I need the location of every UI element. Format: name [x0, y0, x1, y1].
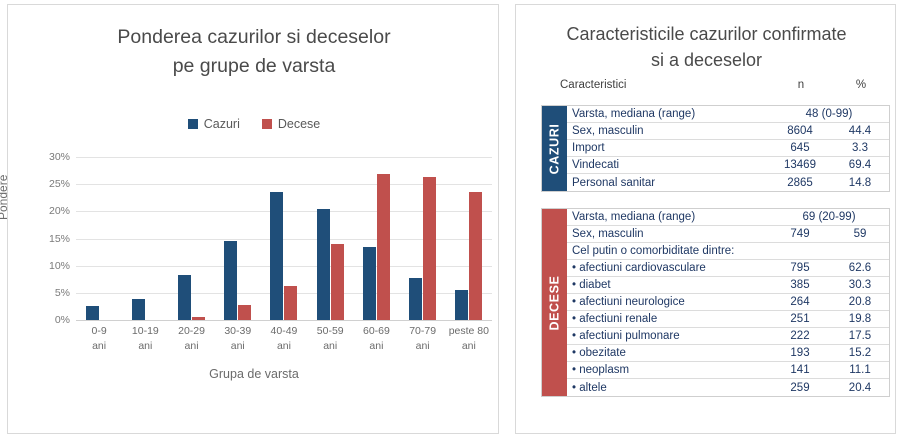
- row-percent-value: 19.8: [831, 313, 889, 325]
- table-row: Vindecati1346969.4: [567, 157, 889, 174]
- cazuri-band: CAZURI: [542, 106, 567, 191]
- decese-table-block: DECESE Varsta, mediana (range)69 (20-99)…: [541, 208, 890, 397]
- bar-group: [261, 157, 307, 320]
- row-n-value: 193: [769, 347, 831, 359]
- row-n-value: 141: [769, 364, 831, 376]
- row-percent-value: 15.2: [831, 347, 889, 359]
- table-row: Cel putin o comorbiditate dintre:: [567, 243, 889, 260]
- legend-swatch-cazuri-icon: [188, 119, 198, 129]
- row-label: • afectiuni cardiovasculare: [567, 262, 769, 274]
- bar-decese: [238, 305, 251, 320]
- row-percent-value: 20.4: [831, 382, 889, 394]
- table-row: • diabet38530.3: [567, 277, 889, 294]
- row-label: Varsta, mediana (range): [567, 211, 769, 223]
- row-label: Import: [567, 142, 769, 154]
- row-n-value: 795: [769, 262, 831, 274]
- row-n-value: 8604: [769, 125, 831, 137]
- bar-cazuri: [409, 278, 422, 320]
- y-tick-label: 10%: [30, 260, 70, 272]
- bar-cazuri: [224, 241, 237, 320]
- bar-cazuri: [270, 192, 283, 320]
- legend-label-decese: Decese: [278, 117, 320, 131]
- bar-group: [122, 157, 168, 320]
- bar-group: [76, 157, 122, 320]
- table-title-line2: si a deceselor: [524, 47, 889, 73]
- row-percent-value: 62.6: [831, 262, 889, 274]
- row-n-value: 13469: [769, 159, 831, 171]
- chart-title-line1: Ponderea cazurilor si deceselor: [8, 23, 500, 52]
- bar-decese: [331, 244, 344, 320]
- bar-cazuri: [86, 306, 99, 320]
- bar-cazuri: [317, 209, 330, 320]
- cazuri-band-label: CAZURI: [548, 123, 562, 174]
- chart-title: Ponderea cazurilor si deceselor pe grupe…: [8, 23, 500, 81]
- bar-group: [353, 157, 399, 320]
- y-axis-ticks: 0%5%10%15%20%25%30%: [30, 150, 70, 328]
- y-tick-label: 5%: [30, 287, 70, 299]
- table-row: • afectiuni neurologice26420.8: [567, 294, 889, 311]
- row-percent-value: 3.3: [831, 142, 889, 154]
- bar-cazuri: [178, 275, 191, 320]
- table-row: • afectiuni renale25119.8: [567, 311, 889, 328]
- bar-series-container: [76, 157, 492, 320]
- table-title: Caracteristicile cazurilor confirmate si…: [524, 21, 889, 73]
- row-label: • obezitate: [567, 347, 769, 359]
- y-tick-label: 0%: [30, 314, 70, 326]
- table-row: • neoplasm14111.1: [567, 362, 889, 379]
- row-label: Varsta, mediana (range): [567, 108, 769, 120]
- y-tick-label: 15%: [30, 233, 70, 245]
- row-label: • altele: [567, 382, 769, 394]
- header-n: n: [770, 79, 832, 91]
- chart-title-line2: pe grupe de varsta: [8, 52, 500, 81]
- row-label: Sex, masculin: [567, 228, 769, 240]
- row-percent-value: 30.3: [831, 279, 889, 291]
- row-label: • afectiuni renale: [567, 313, 769, 325]
- slide-root: Ponderea cazurilor si deceselor pe grupe…: [0, 0, 901, 438]
- row-label: • afectiuni pulmonare: [567, 330, 769, 342]
- cazuri-rows: Varsta, mediana (range)48 (0-99)Sex, mas…: [567, 106, 889, 191]
- bar-decese: [469, 192, 482, 320]
- chart-legend: Cazuri Decese: [8, 117, 500, 131]
- legend-item-decese: Decese: [262, 117, 320, 131]
- row-label: Cel putin o comorbiditate dintre:: [567, 245, 769, 257]
- row-percent-value: 20.8: [831, 296, 889, 308]
- row-span-value: 48 (0-99): [769, 108, 889, 120]
- bar-group: [307, 157, 353, 320]
- row-label: • neoplasm: [567, 364, 769, 376]
- row-label: • diabet: [567, 279, 769, 291]
- y-axis-title: Pondere: [0, 175, 10, 220]
- row-label: Sex, masculin: [567, 125, 769, 137]
- bar-cazuri: [455, 290, 468, 320]
- y-tick-label: 20%: [30, 205, 70, 217]
- table-panel: Caracteristicile cazurilor confirmate si…: [515, 4, 896, 434]
- row-n-value: 385: [769, 279, 831, 291]
- decese-band: DECESE: [542, 209, 567, 396]
- x-tick-label: 30-39ani: [215, 324, 261, 354]
- legend-label-cazuri: Cazuri: [204, 117, 240, 131]
- header-characteristics: Caracteristici: [560, 79, 770, 91]
- bar-cazuri: [132, 299, 145, 320]
- row-n-value: 264: [769, 296, 831, 308]
- x-tick-label: 10-19ani: [122, 324, 168, 354]
- row-n-value: 251: [769, 313, 831, 325]
- x-tick-label: peste 80ani: [446, 324, 492, 354]
- legend-swatch-decese-icon: [262, 119, 272, 129]
- row-percent-value: 69.4: [831, 159, 889, 171]
- y-tick-label: 25%: [30, 178, 70, 190]
- bar-decese: [192, 317, 205, 320]
- table-row: Sex, masculin860444.4: [567, 123, 889, 140]
- row-percent-value: 11.1: [831, 364, 889, 376]
- x-tick-label: 60-69ani: [353, 324, 399, 354]
- row-n-value: 222: [769, 330, 831, 342]
- table-row: Import6453.3: [567, 140, 889, 157]
- chart-panel: Ponderea cazurilor si deceselor pe grupe…: [7, 4, 499, 434]
- row-percent-value: 44.4: [831, 125, 889, 137]
- row-span-value: 69 (20-99): [769, 211, 889, 223]
- bar-group: [168, 157, 214, 320]
- x-tick-label: 40-49ani: [261, 324, 307, 354]
- gridline-0: [76, 320, 492, 321]
- table-row: • obezitate19315.2: [567, 345, 889, 362]
- bar-decese: [377, 174, 390, 320]
- x-tick-label: 0-9ani: [76, 324, 122, 354]
- y-tick-label: 30%: [30, 151, 70, 163]
- bar-group: [446, 157, 492, 320]
- table-row: • afectiuni pulmonare22217.5: [567, 328, 889, 345]
- decese-band-label: DECESE: [548, 275, 562, 330]
- x-axis-ticks: 0-9ani10-19ani20-29ani30-39ani40-49ani50…: [76, 324, 492, 354]
- cazuri-table-block: CAZURI Varsta, mediana (range)48 (0-99)S…: [541, 105, 890, 192]
- table-row: • afectiuni cardiovasculare79562.6: [567, 260, 889, 277]
- x-tick-label: 20-29ani: [168, 324, 214, 354]
- table-title-line1: Caracteristicile cazurilor confirmate: [524, 21, 889, 47]
- table-row: Personal sanitar286514.8: [567, 174, 889, 191]
- row-label: Personal sanitar: [567, 177, 769, 189]
- x-axis-title: Grupa de varsta: [8, 367, 500, 381]
- table-header-row: Caracteristici n %: [560, 79, 890, 91]
- row-n-value: 645: [769, 142, 831, 154]
- row-percent-value: 17.5: [831, 330, 889, 342]
- row-percent-value: 14.8: [831, 177, 889, 189]
- table-row: Varsta, mediana (range)48 (0-99): [567, 106, 889, 123]
- legend-item-cazuri: Cazuri: [188, 117, 240, 131]
- bar-decese: [284, 286, 297, 320]
- row-label: • afectiuni neurologice: [567, 296, 769, 308]
- table-row: • altele25920.4: [567, 379, 889, 396]
- bar-group: [215, 157, 261, 320]
- header-percent: %: [832, 79, 890, 91]
- row-label: Vindecati: [567, 159, 769, 171]
- row-percent-value: 59: [831, 228, 889, 240]
- x-tick-label: 50-59ani: [307, 324, 353, 354]
- row-n-value: 2865: [769, 177, 831, 189]
- row-n-value: 259: [769, 382, 831, 394]
- table-row: Varsta, mediana (range)69 (20-99): [567, 209, 889, 226]
- x-tick-label: 70-79ani: [400, 324, 446, 354]
- table-row: Sex, masculin74959: [567, 226, 889, 243]
- bar-group: [400, 157, 446, 320]
- bar-decese: [423, 177, 436, 320]
- bar-cazuri: [363, 247, 376, 320]
- decese-rows: Varsta, mediana (range)69 (20-99)Sex, ma…: [567, 209, 889, 396]
- row-n-value: 749: [769, 228, 831, 240]
